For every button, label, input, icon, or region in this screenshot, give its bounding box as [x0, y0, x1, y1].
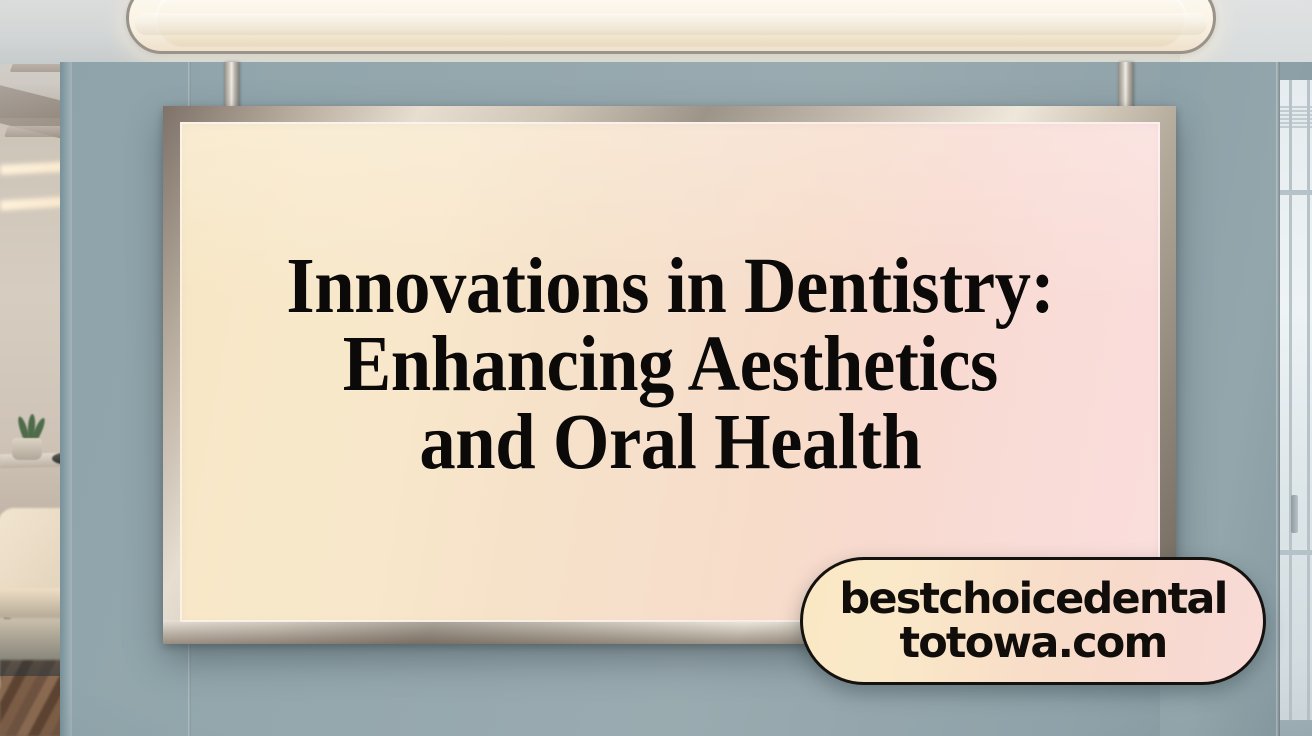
- badge-line-1: bestchoicedental: [839, 577, 1226, 621]
- oval-ceiling-lamp-icon: [126, 0, 1216, 54]
- ceiling-vent-secondary-icon: [4, 126, 64, 137]
- glass-entry-door: [1280, 80, 1312, 736]
- page-title: Innovations in Dentistry: Enhancing Aest…: [286, 248, 1054, 483]
- headline-line-1: Innovations in Dentistry:: [286, 248, 1054, 326]
- website-url-badge[interactable]: bestchoicedental totowa.com: [800, 557, 1266, 685]
- door-mullion: [1289, 80, 1292, 736]
- potted-plant-icon: [8, 412, 50, 460]
- door-mullion-secondary: [1307, 80, 1310, 736]
- wall-left-edge: [60, 62, 72, 736]
- exterior-floor: [1280, 720, 1312, 736]
- door-rail-top: [1280, 190, 1312, 195]
- headline-line-2: Enhancing Aesthetics: [286, 326, 1054, 404]
- badge-line-2: totowa.com: [899, 621, 1166, 665]
- signboard-scene: Innovations in Dentistry: Enhancing Aest…: [0, 0, 1312, 736]
- headline-line-3: and Oral Health: [286, 404, 1054, 482]
- lamp-rim: [135, 13, 1207, 35]
- sign-board: Innovations in Dentistry: Enhancing Aest…: [180, 122, 1160, 622]
- door-handle-icon: [1291, 495, 1298, 533]
- door-rail-bottom: [1280, 550, 1312, 555]
